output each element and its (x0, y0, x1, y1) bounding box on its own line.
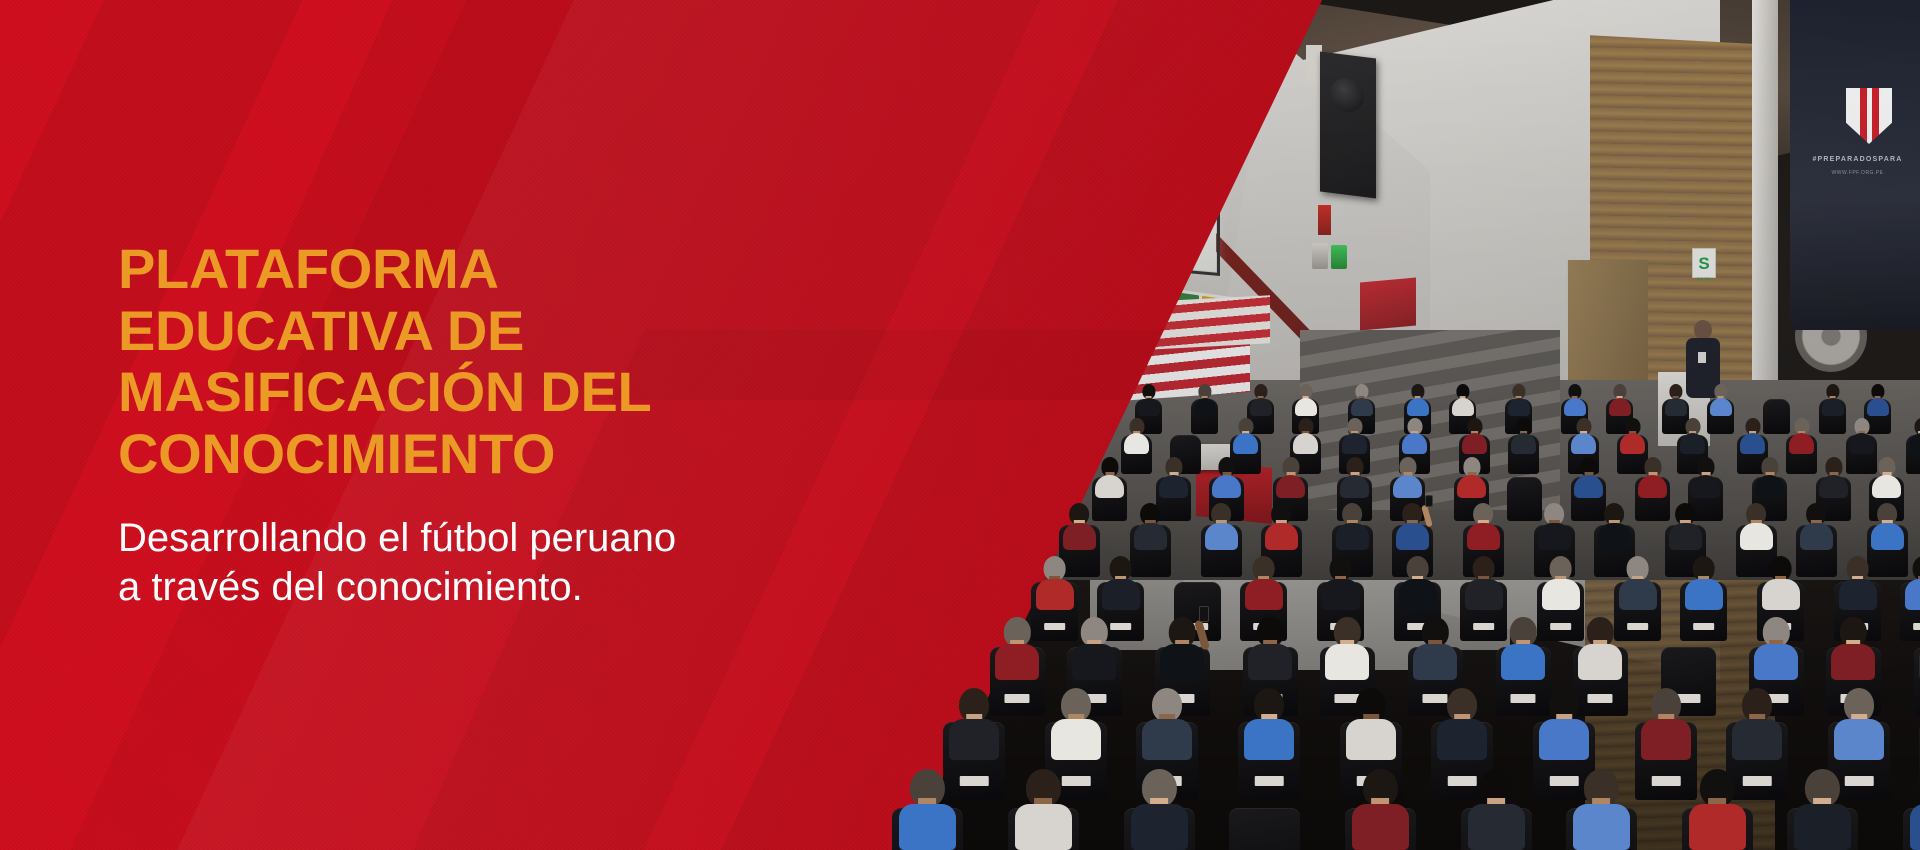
audience-shoulders (1839, 579, 1877, 610)
subheadline-line-2: a través del conocimiento. (118, 563, 878, 612)
audience-member (1641, 688, 1691, 754)
seat-number-tag (1511, 694, 1536, 703)
podium-speaker-badge (1698, 352, 1706, 363)
audience-member (1872, 457, 1901, 495)
auditorium-seat (1229, 808, 1300, 850)
audience-member (1467, 503, 1500, 547)
audience-member (1457, 457, 1486, 495)
audience-shoulders (1501, 644, 1545, 680)
audience-shoulders (1598, 523, 1631, 550)
audience-shoulders (1036, 579, 1074, 610)
hero-banner: S SALIDA #PREPARADOSPARA WWW.FPF.ORG.PE … (0, 0, 1920, 850)
audience-member (1465, 556, 1503, 606)
audience-member (1578, 617, 1622, 675)
audience-member (1212, 457, 1241, 495)
audience-shoulders (1564, 398, 1586, 416)
audience-member (1794, 769, 1851, 844)
audience-member (1685, 556, 1723, 606)
phone-device (1199, 606, 1210, 622)
audience-shoulders (1407, 398, 1429, 416)
audience-member (1351, 384, 1373, 413)
audience-shoulders (1508, 398, 1530, 416)
audience-shoulders (1871, 523, 1904, 550)
audience-member (1669, 503, 1702, 547)
audience-shoulders (1142, 719, 1192, 760)
audience-member (1849, 418, 1874, 451)
audience-shoulders (1905, 579, 1920, 610)
audience-member (1194, 384, 1216, 413)
audience-member (1407, 384, 1429, 413)
audience-shoulders (1248, 644, 1292, 680)
audience-member (1574, 457, 1603, 495)
audience-shoulders (1212, 475, 1241, 498)
audience-shoulders (1233, 433, 1258, 453)
audience-shoulders (1910, 804, 1920, 850)
audience-shoulders (1538, 523, 1571, 550)
audience-member (1124, 418, 1149, 451)
audience-shoulders (1159, 475, 1188, 498)
seat-number-tag (1588, 694, 1613, 703)
audience-member (1462, 418, 1487, 451)
seat-number-tag (1473, 623, 1495, 631)
audience-shoulders (1015, 804, 1072, 850)
audience-shoulders (1641, 719, 1691, 760)
audience-shoulders (1244, 719, 1294, 760)
audience-shoulders (1762, 579, 1800, 610)
audience-shoulders (1325, 644, 1369, 680)
audience-member (1789, 418, 1814, 451)
audience-shoulders (1754, 644, 1798, 680)
audience-member (1638, 457, 1667, 495)
first-aid-box (1331, 245, 1347, 269)
audience-member (1134, 503, 1167, 547)
audience-member (1538, 503, 1571, 547)
audience-member (1244, 688, 1294, 754)
auditorium-seat (1763, 399, 1790, 433)
audience-shoulders (1250, 398, 1272, 416)
audience-shoulders (1710, 398, 1732, 416)
audience-shoulders (1399, 579, 1437, 610)
red-stage-box (1360, 278, 1416, 331)
audience-shoulders (1205, 523, 1238, 550)
audience-shoulders (1819, 475, 1848, 498)
audience-shoulders (1573, 804, 1630, 850)
audience-shoulders (1468, 804, 1525, 850)
audience-member (1710, 384, 1732, 413)
audience-member (1620, 418, 1645, 451)
audience-shoulders (1340, 475, 1369, 498)
audience-member (1732, 688, 1782, 754)
audience-shoulders (1794, 804, 1851, 850)
audience-member (1539, 688, 1589, 754)
audience-member (1336, 503, 1369, 547)
audience-member (1399, 556, 1437, 606)
audience-member (1393, 457, 1422, 495)
audience-member (1800, 503, 1833, 547)
audience-shoulders (1867, 398, 1889, 416)
seat-number-tag (1693, 623, 1715, 631)
audience-member (995, 617, 1039, 675)
audience-shoulders (1669, 523, 1702, 550)
audience-member (1102, 556, 1140, 606)
seat-number-tag (1550, 623, 1572, 631)
audience-shoulders (1160, 644, 1204, 680)
audience-member (1508, 384, 1530, 413)
banner-content: PLATAFORMAEDUCATIVA DEMASIFICACIÓN DELCO… (118, 0, 878, 850)
audience-member (1831, 617, 1875, 675)
audience-member (1867, 384, 1889, 413)
headline-line-3: MASIFICACIÓN DEL (118, 361, 878, 423)
audience-member (1138, 384, 1160, 413)
audience-shoulders (1539, 719, 1589, 760)
audience-shoulders (1322, 579, 1360, 610)
audience-member (1542, 556, 1580, 606)
audience-member (1822, 384, 1844, 413)
fpf-banner (1790, 0, 1920, 330)
audience-member (1839, 556, 1877, 606)
headline-line-1: PLATAFORMA (118, 238, 878, 300)
audience-shoulders (1467, 523, 1500, 550)
audience-member (1437, 688, 1487, 754)
audience-member (1665, 384, 1687, 413)
audience-member (1754, 617, 1798, 675)
audience-shoulders (1511, 433, 1536, 453)
audience-shoulders (1800, 523, 1833, 550)
audience-member (1051, 688, 1101, 754)
audience-member (1015, 769, 1072, 844)
fire-extinguisher-box (1312, 243, 1328, 269)
seat-number-tag (1743, 776, 1772, 786)
headline-line-2: EDUCATIVA DE (118, 300, 878, 362)
banner-headline: PLATAFORMAEDUCATIVA DEMASIFICACIÓN DELCO… (118, 238, 878, 484)
audience-shoulders (1138, 398, 1160, 416)
audience-member (1322, 556, 1360, 606)
audience-member (1413, 617, 1457, 675)
audience-member (899, 769, 956, 844)
audience-shoulders (1620, 433, 1645, 453)
audience-member (1245, 556, 1283, 606)
audience-member (1564, 384, 1586, 413)
audience-shoulders (1834, 719, 1884, 760)
audience-shoulders (1276, 475, 1305, 498)
audience-member (1072, 617, 1116, 675)
phone-device (1425, 495, 1433, 507)
audience-member (1598, 503, 1631, 547)
audience-shoulders (1465, 579, 1503, 610)
audience-shoulders (1351, 398, 1373, 416)
audience-member (1680, 418, 1705, 451)
audience-member (1905, 556, 1920, 606)
loudspeaker (1320, 52, 1376, 199)
audience-member (1871, 503, 1904, 547)
audience-shoulders (1437, 719, 1487, 760)
audience-member (1036, 556, 1074, 606)
audience-shoulders (1619, 579, 1657, 610)
audience-shoulders (1265, 523, 1298, 550)
audience-member (1250, 384, 1272, 413)
audience-shoulders (899, 804, 956, 850)
audience-shoulders (1396, 523, 1429, 550)
audience-member (1511, 418, 1536, 451)
audience-member (1740, 503, 1773, 547)
seat-number-tag (1005, 694, 1030, 703)
audience-shoulders (1194, 398, 1216, 416)
audience-shoulders (1352, 804, 1409, 850)
audience-shoulders (1665, 398, 1687, 416)
audience-shoulders (1755, 475, 1784, 498)
audience-shoulders (1574, 475, 1603, 498)
audience-shoulders (1909, 433, 1920, 453)
audience-member (1910, 769, 1920, 844)
audience-member (1342, 418, 1367, 451)
audience-shoulders (1124, 433, 1149, 453)
audience-shoulders (1072, 644, 1116, 680)
audience-shoulders (1102, 579, 1140, 610)
audience-shoulders (1095, 475, 1124, 498)
audience-shoulders (1685, 579, 1723, 610)
audience-shoulders (1638, 475, 1667, 498)
audience-shoulders (1872, 475, 1901, 498)
audience-member (1619, 556, 1657, 606)
audience-member (1340, 457, 1369, 495)
audience-shoulders (1295, 398, 1317, 416)
audience-member (1325, 617, 1369, 675)
audience-shoulders (1134, 523, 1167, 550)
audience-shoulders (1831, 644, 1875, 680)
exit-sign: S (1692, 248, 1716, 278)
audience-shoulders (1740, 523, 1773, 550)
audience-member (1131, 769, 1188, 844)
audience-shoulders (1051, 719, 1101, 760)
audience-shoulders (995, 644, 1039, 680)
audience-member (1755, 457, 1784, 495)
audience-shoulders (1293, 433, 1318, 453)
audience-shoulders (1822, 398, 1844, 416)
audience-member (1468, 769, 1525, 844)
audience-member (1501, 617, 1545, 675)
audience-member (1295, 384, 1317, 413)
fire-safety-sign (1318, 205, 1331, 235)
audience-member (1571, 418, 1596, 451)
audience-shoulders (1849, 433, 1874, 453)
audience-member (1819, 457, 1848, 495)
audience-shoulders (1063, 523, 1096, 550)
audience-shoulders (1393, 475, 1422, 498)
audience-member (1452, 384, 1474, 413)
audience-shoulders (1346, 719, 1396, 760)
audience-member (1205, 503, 1238, 547)
audience-member (1573, 769, 1630, 844)
audience-member (1909, 418, 1920, 451)
seat-number-tag (960, 776, 989, 786)
audience-member (1248, 617, 1292, 675)
banner-subheadline: Desarrollando el fútbol peruanoa través … (118, 514, 878, 612)
fpf-banner-tagline: #PREPARADOSPARA (1800, 156, 1915, 163)
audience-shoulders (1680, 433, 1705, 453)
audience-member (1233, 418, 1258, 451)
audience-shoulders (1609, 398, 1631, 416)
audience-shoulders (1578, 644, 1622, 680)
audience-shoulders (1691, 475, 1720, 498)
audience-member (1352, 769, 1409, 844)
audience-member (1095, 457, 1124, 495)
exit-sign-letter: S (1698, 255, 1709, 272)
audience-shoulders (1457, 475, 1486, 498)
audience-member (1063, 503, 1096, 547)
seat-number-tag (1255, 776, 1284, 786)
headline-line-4: CONOCIMIENTO (118, 423, 878, 485)
audience-shoulders (1131, 804, 1188, 850)
audience-shoulders (1542, 579, 1580, 610)
audience-member (1609, 384, 1631, 413)
seat-number-tag (1044, 623, 1066, 631)
audience-member (1834, 688, 1884, 754)
seat-number-tag (1627, 623, 1649, 631)
audience-shoulders (949, 719, 999, 760)
audience-shoulders (1245, 579, 1283, 610)
audience-shoulders (1452, 398, 1474, 416)
exit-sign-sublabel: SALIDA (1690, 276, 1718, 281)
audience-member (1159, 457, 1188, 495)
audience-shoulders (1402, 433, 1427, 453)
audience-member (949, 688, 999, 754)
audience-shoulders (1336, 523, 1369, 550)
audience-shoulders (1740, 433, 1765, 453)
audience-shoulders (1571, 433, 1596, 453)
audience-shoulders (1462, 433, 1487, 453)
audience-member (1689, 769, 1746, 844)
audience-member (1402, 418, 1427, 451)
audience-shoulders (1342, 433, 1367, 453)
fpf-banner-url: WWW.FPF.ORG.PE (1800, 170, 1915, 176)
audience-shoulders (1789, 433, 1814, 453)
audience-shoulders (1413, 644, 1457, 680)
audience-member (1740, 418, 1765, 451)
audience-shoulders (1689, 804, 1746, 850)
audience-shoulders (1732, 719, 1782, 760)
audience-member (1762, 556, 1800, 606)
audience-member (1691, 457, 1720, 495)
audience-member (1142, 688, 1192, 754)
audience-member (1293, 418, 1318, 451)
audience-member (1276, 457, 1305, 495)
audience-member (1265, 503, 1298, 547)
subheadline-line-1: Desarrollando el fútbol peruano (118, 514, 878, 563)
podium-speaker-head (1694, 320, 1712, 340)
seat-number-tag (1652, 776, 1681, 786)
audience-member (1346, 688, 1396, 754)
